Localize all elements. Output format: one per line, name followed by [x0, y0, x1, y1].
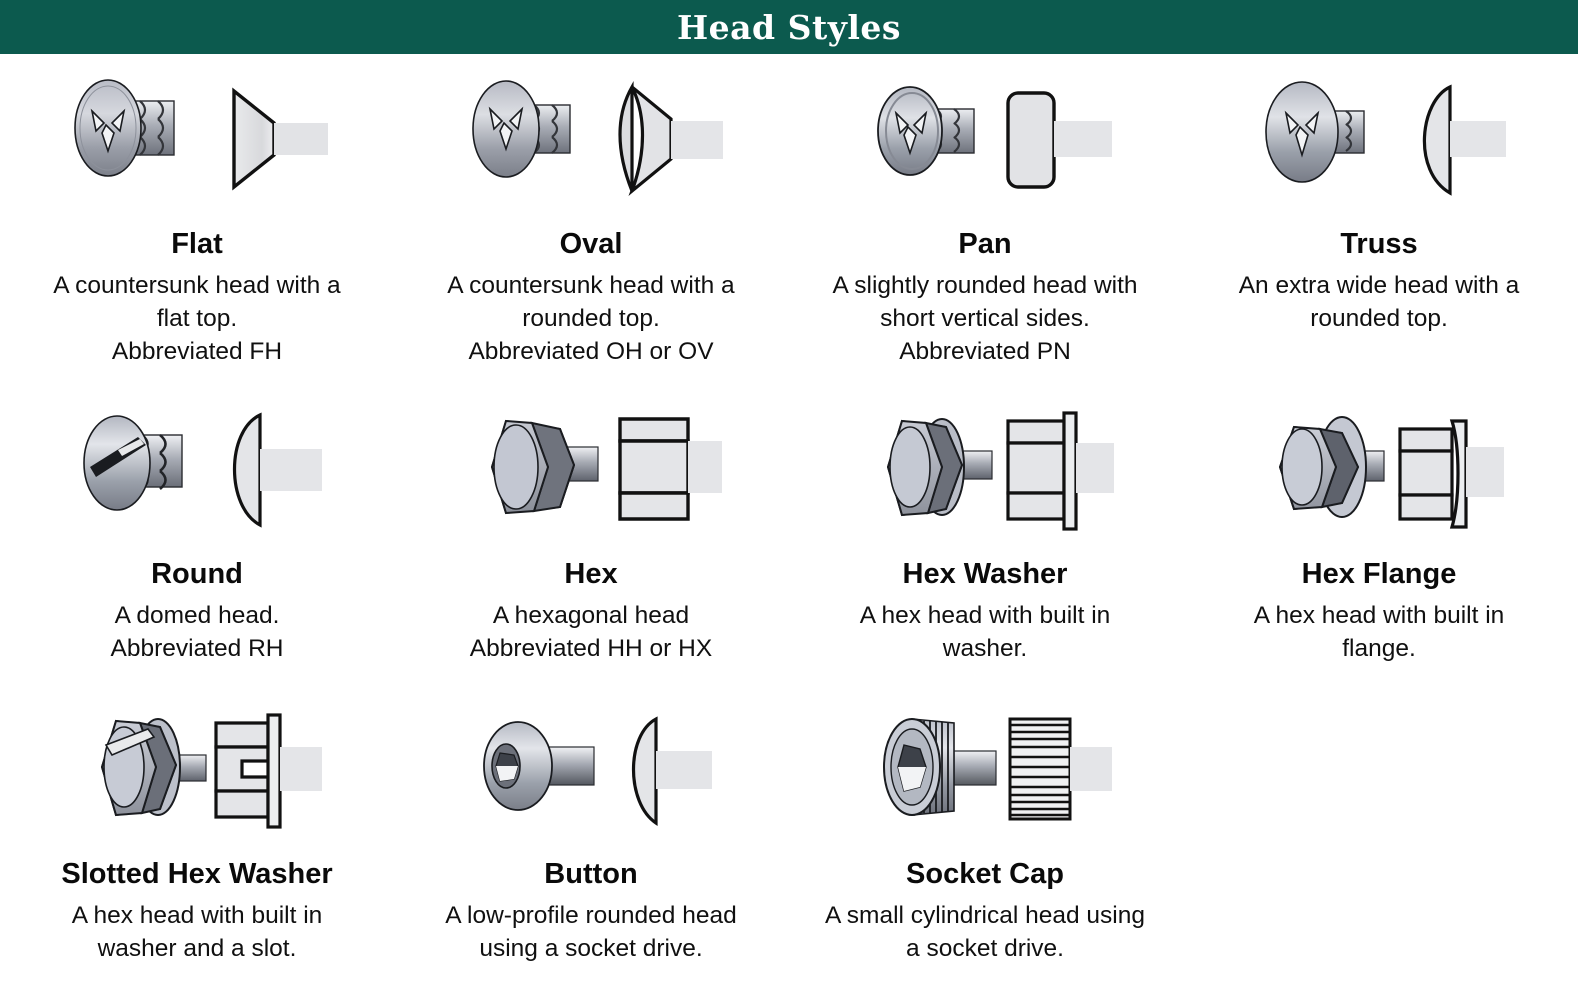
head-style-name: Slotted Hex Washer — [61, 859, 332, 889]
head-style-name: Hex Washer — [903, 559, 1068, 589]
head-style-description: A hex head with built in washer. — [860, 600, 1111, 665]
head-style-name: Hex Flange — [1302, 559, 1457, 589]
head-style-card-slotted-hex-washer[interactable]: Slotted Hex Washer A hex head with built… — [0, 702, 394, 992]
head-style-description: A hex head with built in flange. — [1254, 600, 1505, 665]
hex-head-bolt-icon — [394, 402, 788, 537]
head-styles-page: Head Styles — [0, 0, 1578, 994]
oval-head-screw-icon — [394, 72, 788, 207]
pan-head-screw-icon — [788, 72, 1182, 207]
head-style-description: A small cylindrical head using a socket … — [825, 900, 1145, 965]
head-style-card-button[interactable]: Button A low-profile rounded head using … — [394, 702, 788, 992]
head-styles-row: Slotted Hex Washer A hex head with built… — [0, 702, 1578, 992]
head-styles-grid: Flat A countersunk head with a flat top.… — [0, 54, 1578, 992]
head-style-name: Socket Cap — [906, 859, 1064, 889]
head-style-description: A countersunk head with a flat top. Abbr… — [53, 270, 340, 368]
flat-head-screw-icon — [0, 72, 394, 207]
head-styles-row: Round A domed head. Abbreviated RH — [0, 402, 1578, 702]
hex-washer-head-bolt-icon — [788, 402, 1182, 537]
head-style-name: Button — [544, 859, 637, 889]
head-style-card-flat[interactable]: Flat A countersunk head with a flat top.… — [0, 72, 394, 402]
head-styles-row: Flat A countersunk head with a flat top.… — [0, 72, 1578, 402]
truss-head-screw-icon — [1182, 72, 1576, 207]
head-style-name: Truss — [1340, 229, 1417, 259]
page-header: Head Styles — [0, 0, 1578, 54]
head-style-card-hex-flange[interactable]: Hex Flange A hex head with built in flan… — [1182, 402, 1576, 702]
head-style-description: A domed head. Abbreviated RH — [111, 600, 284, 665]
round-head-screw-icon — [0, 402, 394, 537]
head-style-name: Oval — [560, 229, 623, 259]
head-style-description: A slightly rounded head with short verti… — [832, 270, 1137, 368]
head-style-description: An extra wide head with a rounded top. — [1239, 270, 1520, 335]
socket-cap-screw-icon — [788, 702, 1182, 837]
head-style-card-hex-washer[interactable]: Hex Washer A hex head with built in wash… — [788, 402, 1182, 702]
head-style-card-socket-cap[interactable]: Socket Cap A small cylindrical head usin… — [788, 702, 1182, 992]
button-head-screw-icon — [394, 702, 788, 837]
hex-flange-head-bolt-icon — [1182, 402, 1576, 537]
head-style-card-hex[interactable]: Hex A hexagonal head Abbreviated HH or H… — [394, 402, 788, 702]
slotted-hex-washer-head-screw-icon — [0, 702, 394, 837]
head-style-description: A hexagonal head Abbreviated HH or HX — [470, 600, 712, 665]
page-title: Head Styles — [677, 11, 901, 44]
head-style-card-pan[interactable]: Pan A slightly rounded head with short v… — [788, 72, 1182, 402]
head-style-name: Flat — [171, 229, 223, 259]
head-style-description: A hex head with built in washer and a sl… — [72, 900, 323, 965]
head-style-description: A low-profile rounded head using a socke… — [445, 900, 736, 965]
head-style-name: Round — [151, 559, 243, 589]
head-style-name: Hex — [564, 559, 617, 589]
head-style-card-round[interactable]: Round A domed head. Abbreviated RH — [0, 402, 394, 702]
head-style-name: Pan — [958, 229, 1011, 259]
head-style-description: A countersunk head with a rounded top. A… — [447, 270, 734, 368]
head-style-card-truss[interactable]: Truss An extra wide head with a rounded … — [1182, 72, 1576, 402]
head-style-card-oval[interactable]: Oval A countersunk head with a rounded t… — [394, 72, 788, 402]
